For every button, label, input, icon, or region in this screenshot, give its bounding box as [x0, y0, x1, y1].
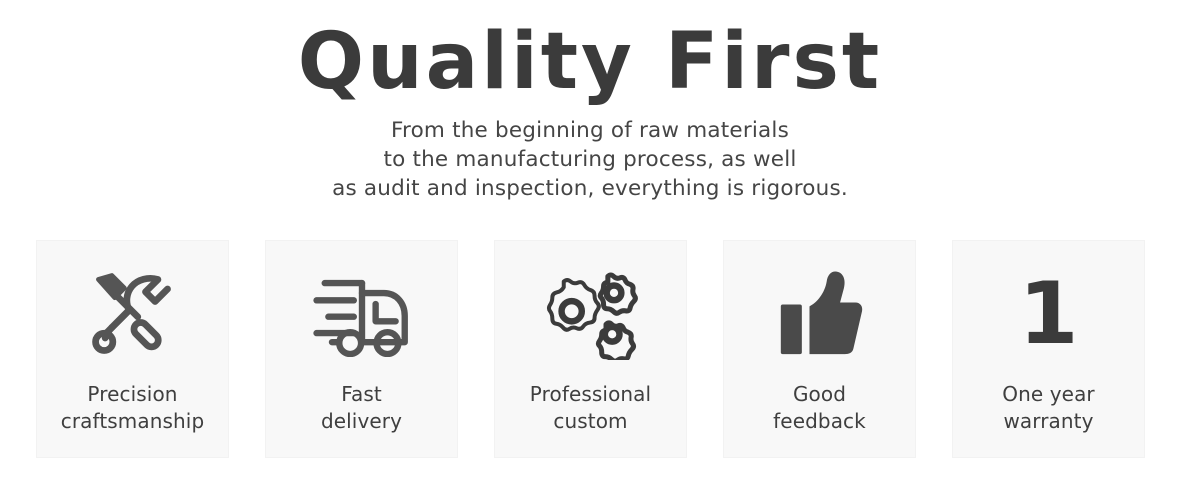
wrench-screwdriver-icon — [85, 266, 181, 362]
subtitle-line-1: From the beginning of raw materials — [0, 116, 1180, 145]
icon-container — [539, 241, 643, 381]
delivery-truck-icon — [312, 271, 412, 357]
subtitle-line-2: to the manufacturing process, as well — [0, 145, 1180, 174]
card-label-line-1: Professional — [530, 381, 651, 408]
card-label-line-1: Good — [773, 381, 866, 408]
card-label: Good feedback — [773, 381, 866, 435]
feature-card-row: Precision craftsmanship — [36, 240, 1145, 458]
card-label-line-1: Precision — [61, 381, 205, 408]
feature-card-precision-craftsmanship[interactable]: Precision craftsmanship — [36, 240, 229, 458]
subtitle-line-3: as audit and inspection, everything is r… — [0, 174, 1180, 203]
card-label-line-1: Fast — [321, 381, 402, 408]
card-label-line-2: craftsmanship — [61, 408, 205, 435]
card-label: Precision craftsmanship — [61, 381, 205, 435]
gears-icon — [539, 268, 643, 360]
card-label-line-1: One year — [1002, 381, 1095, 408]
feature-card-good-feedback[interactable]: Good feedback — [723, 240, 916, 458]
quality-first-banner: Quality First From the beginning of raw … — [0, 0, 1180, 492]
card-label-line-2: delivery — [321, 408, 402, 435]
card-label: One year warranty — [1002, 381, 1095, 435]
page-title: Quality First — [0, 16, 1180, 108]
feature-card-fast-delivery[interactable]: Fast delivery — [265, 240, 458, 458]
card-label-line-2: custom — [530, 408, 651, 435]
thumbs-up-icon — [777, 268, 863, 360]
icon-container: 1 — [1019, 241, 1079, 381]
feature-card-professional-custom[interactable]: Professional custom — [494, 240, 687, 458]
card-label-line-2: warranty — [1002, 408, 1095, 435]
card-label: Fast delivery — [321, 381, 402, 435]
feature-card-one-year-warranty[interactable]: 1 One year warranty — [952, 240, 1145, 458]
icon-container — [85, 241, 181, 381]
card-label: Professional custom — [530, 381, 651, 435]
icon-container — [312, 241, 412, 381]
number-one-icon: 1 — [1019, 271, 1079, 357]
page-subtitle: From the beginning of raw materials to t… — [0, 116, 1180, 203]
card-label-line-2: feedback — [773, 408, 866, 435]
header: Quality First From the beginning of raw … — [0, 0, 1180, 203]
icon-container — [777, 241, 863, 381]
